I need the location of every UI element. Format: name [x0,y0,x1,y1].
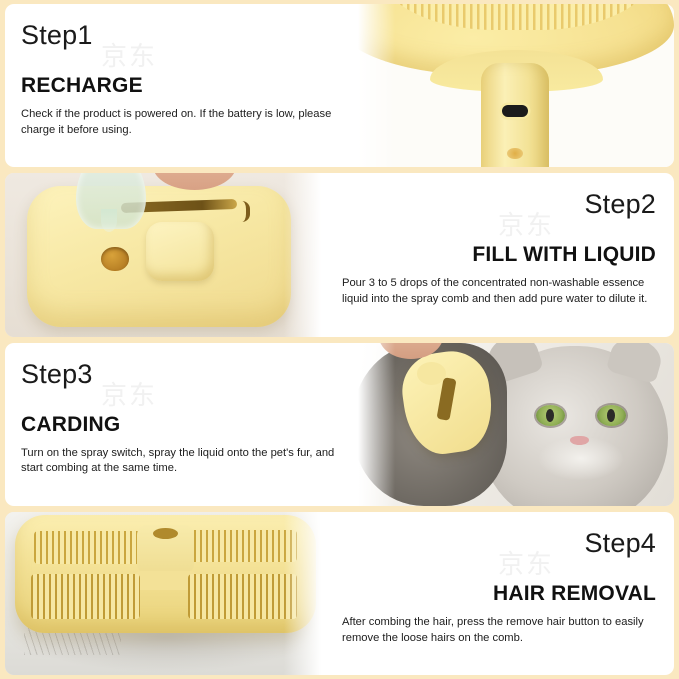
watermark-text: 京东 [498,544,554,581]
brush-charging-port-photo [353,4,674,167]
step-card-1: 京东 Step1 RECHARGE Check if the product i… [5,4,674,167]
step-2-description: Pour 3 to 5 drops of the concentrated no… [342,276,656,308]
image-fade-right [284,512,326,675]
step-2-label: Step2 [584,191,656,218]
image-fade-right [284,173,326,336]
step-4-label: Step4 [584,530,656,557]
watermark-text: 京东 [101,36,157,73]
step-1-description: Check if the product is powered on. If t… [21,107,337,139]
watermark-text: 京东 [498,205,554,242]
step-2-image [5,173,326,336]
step-2-text-pane: 京东 Step2 FILL WITH LIQUID Pour 3 to 5 dr… [326,173,674,336]
step-3-image [353,343,674,506]
step-1-title: RECHARGE [21,75,337,96]
step-4-description: After combing the hair, press the remove… [342,615,656,647]
cat-being-brushed-photo [353,343,674,506]
step-4-image [5,512,326,675]
step-2-title: FILL WITH LIQUID [472,244,656,265]
step-1-label: Step1 [21,22,337,49]
step-4-text-pane: 京东 Step4 HAIR REMOVAL After combing the … [326,512,674,675]
watermark-text: 京东 [101,375,157,412]
step-card-2: 京东 Step2 FILL WITH LIQUID Pour 3 to 5 dr… [5,173,674,336]
step-3-description: Turn on the spray switch, spray the liqu… [21,446,337,478]
step-1-image [353,4,674,167]
image-fade-left [353,4,395,167]
step-card-4: 京东 Step4 HAIR REMOVAL After combing the … [5,512,674,675]
step-3-text-pane: 京东 Step3 CARDING Turn on the spray switc… [5,343,353,506]
step-1-text-pane: 京东 Step1 RECHARGE Check if the product i… [5,4,353,167]
usb-c-port-icon [502,105,528,117]
comb-head-with-hair-photo [5,512,326,675]
step-4-title: HAIR REMOVAL [493,583,656,604]
step-3-title: CARDING [21,414,337,435]
instruction-infographic: 京东 Step1 RECHARGE Check if the product i… [0,0,679,679]
dropper-filling-reservoir-photo [5,173,326,336]
image-fade-left [353,343,395,506]
step-card-3: 京东 Step3 CARDING Turn on the spray switc… [5,343,674,506]
step-3-label: Step3 [21,361,337,388]
